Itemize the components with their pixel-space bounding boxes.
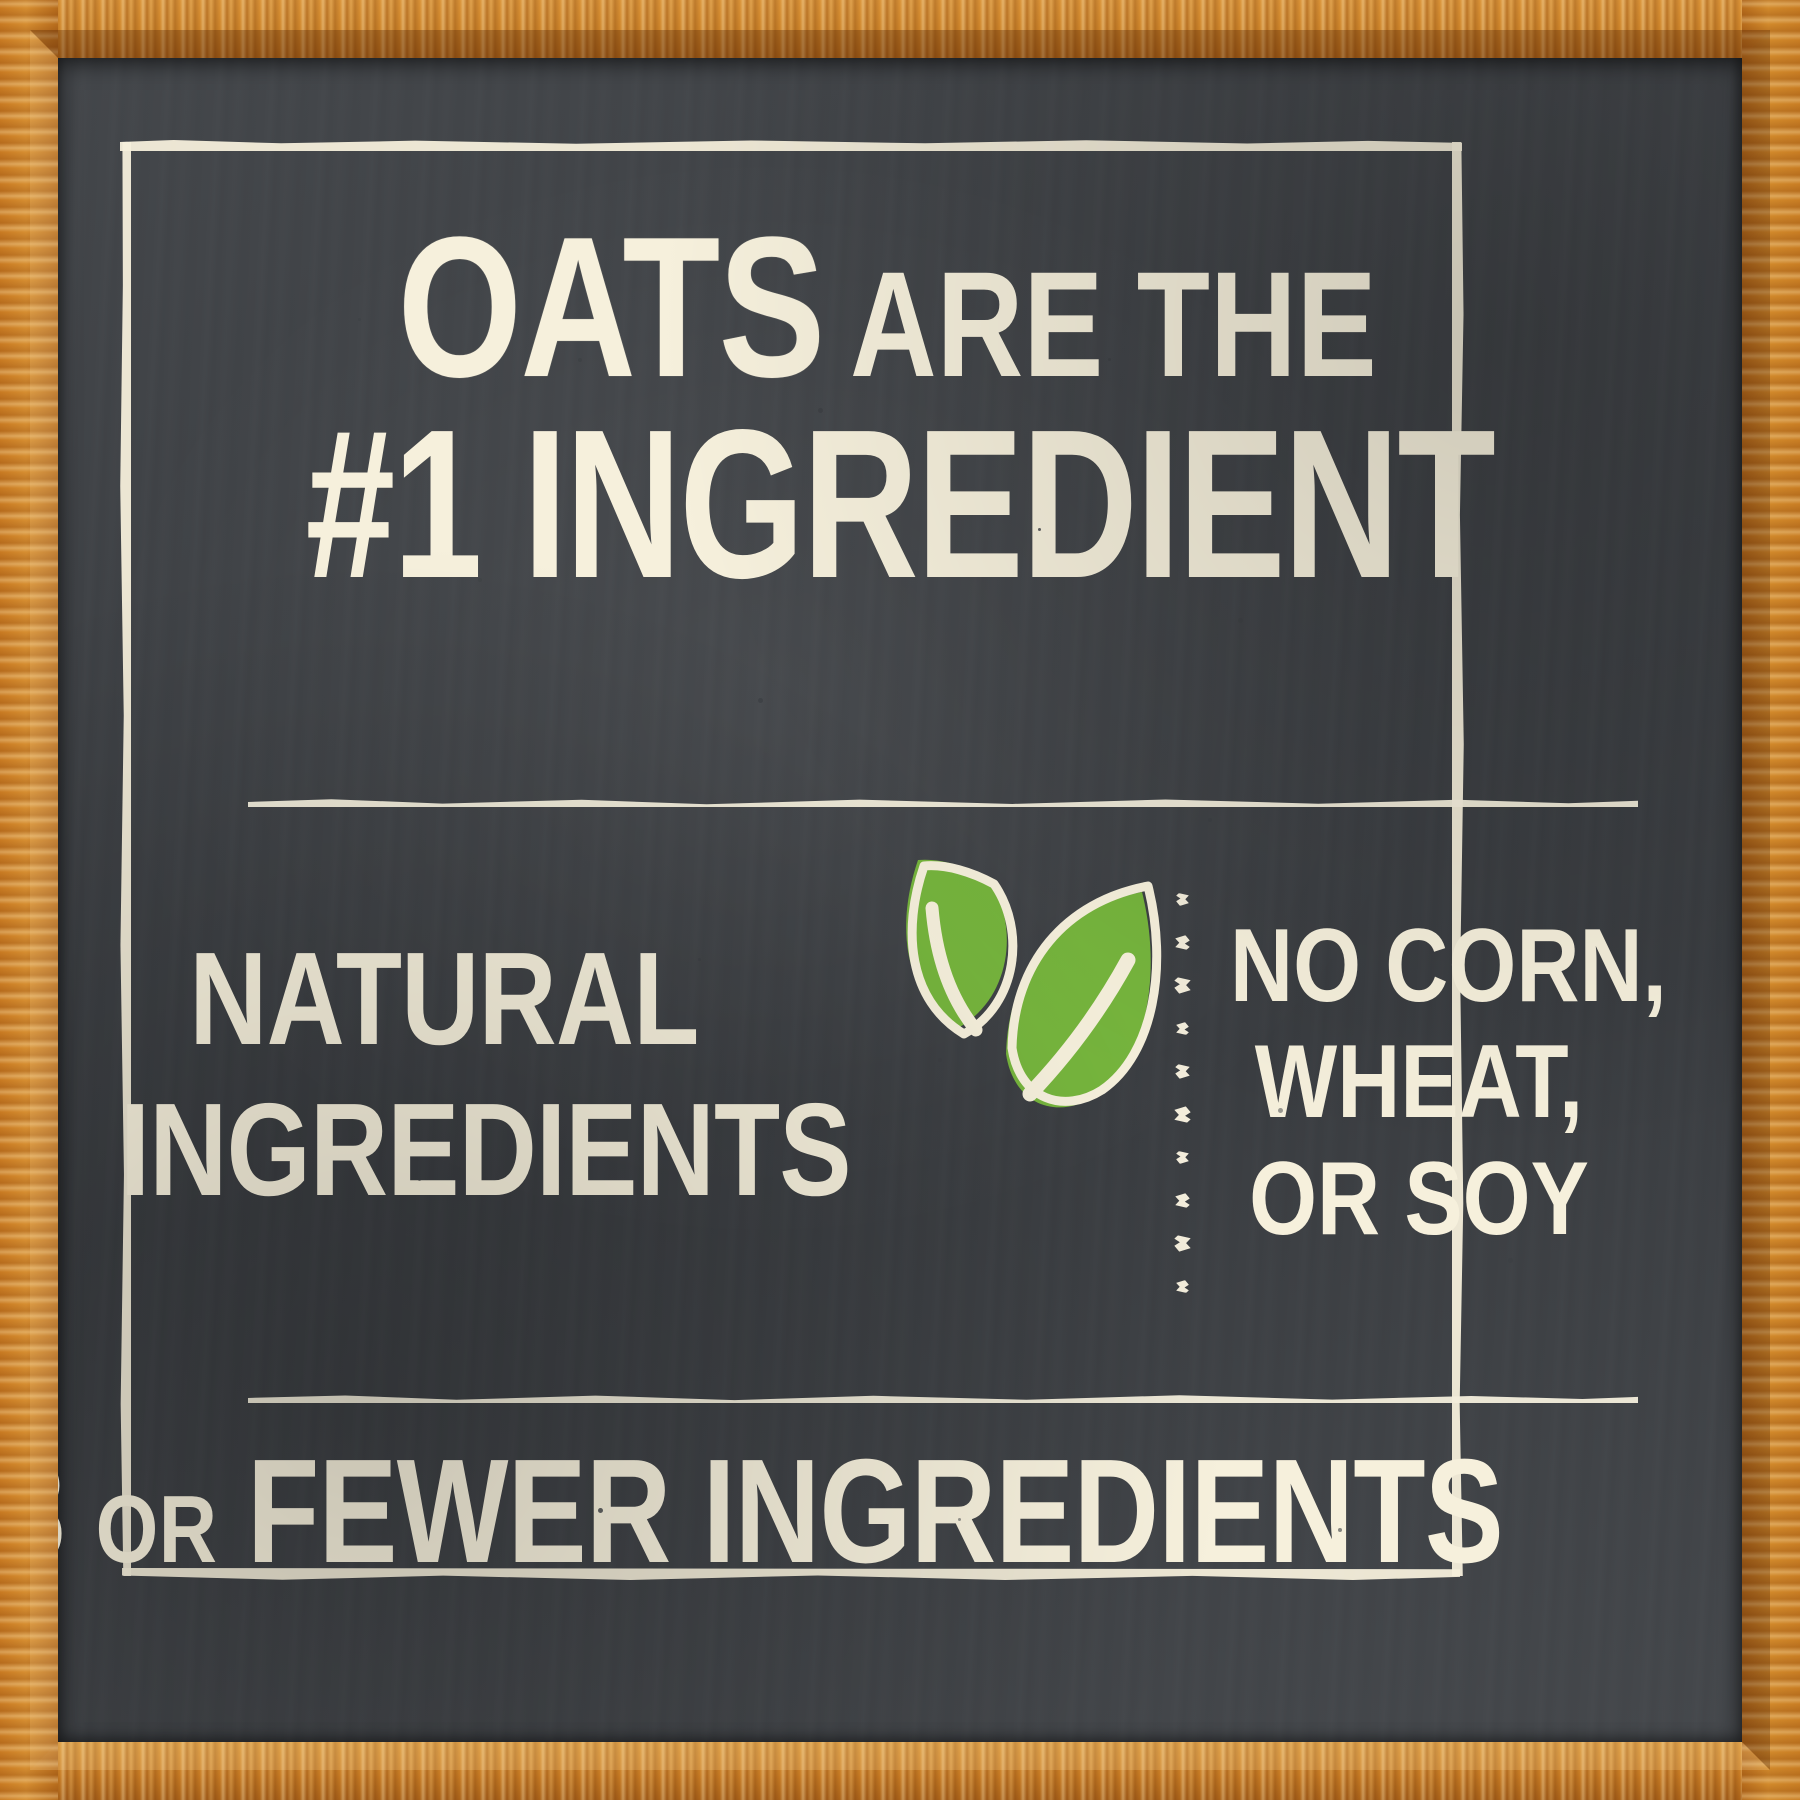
divider-dot	[1176, 1280, 1189, 1293]
chalk-speck	[758, 698, 763, 703]
headline-line-1: OATS ARE THE	[120, 208, 1680, 388]
headline-word-are-the: ARE THE	[850, 249, 1377, 399]
headline-block: OATS ARE THE #1 INGREDIENT	[120, 208, 1680, 598]
fewer-ingredients-text: FEWER INGREDIENTS	[247, 1438, 1503, 1586]
chalk-speck	[1208, 818, 1212, 822]
no-corn-wheat-soy-block: NO CORN, WHEAT, OR SOY	[1230, 908, 1680, 1257]
natural-ingredients-block: NATURAL INGREDIENTS	[120, 928, 910, 1221]
fewer-ingredients-block: 8 OR FEWER INGREDIENTS	[120, 1438, 1680, 1588]
divider-dot	[1175, 1193, 1190, 1208]
headline-number-one-ingredient: #1 INGREDIENT	[306, 398, 1494, 610]
chalk-border-top	[120, 140, 1462, 151]
ingredient-count-or: OR	[96, 1482, 218, 1578]
wooden-picture-frame: OATS ARE THE #1 INGREDIENT NATURAL INGRE…	[0, 0, 1800, 1800]
divider-dot	[1174, 1235, 1190, 1251]
divider-dot	[1176, 1151, 1189, 1164]
no-corn-line-3: OR SOY	[1230, 1141, 1608, 1257]
natural-ingredients-line-1: NATURAL	[120, 928, 768, 1071]
chalkboard-surface: OATS ARE THE #1 INGREDIENT NATURAL INGRE…	[58, 58, 1742, 1742]
divider-dot	[1174, 1106, 1190, 1122]
divider-dot	[1175, 1064, 1190, 1079]
divider-dot	[1176, 1022, 1189, 1035]
no-corn-line-1: NO CORN,	[1230, 908, 1608, 1024]
middle-row: NATURAL INGREDIENTS	[120, 858, 1680, 1378]
leaves-icon	[880, 838, 1180, 1138]
divider-dot	[1175, 935, 1190, 950]
headline-line-2: #1 INGREDIENT	[120, 398, 1680, 598]
natural-ingredients-line-2: INGREDIENTS	[120, 1079, 768, 1222]
chalk-divider-upper	[248, 798, 1638, 807]
divider-dot	[1174, 977, 1190, 993]
divider-dot	[1176, 893, 1189, 906]
no-corn-line-2: WHEAT,	[1230, 1024, 1608, 1140]
headline-word-oats: OATS	[398, 208, 824, 408]
dotted-vertical-divider	[1175, 888, 1193, 1318]
ingredient-count-number: 8	[58, 1438, 66, 1586]
chalk-divider-lower	[248, 1394, 1638, 1403]
